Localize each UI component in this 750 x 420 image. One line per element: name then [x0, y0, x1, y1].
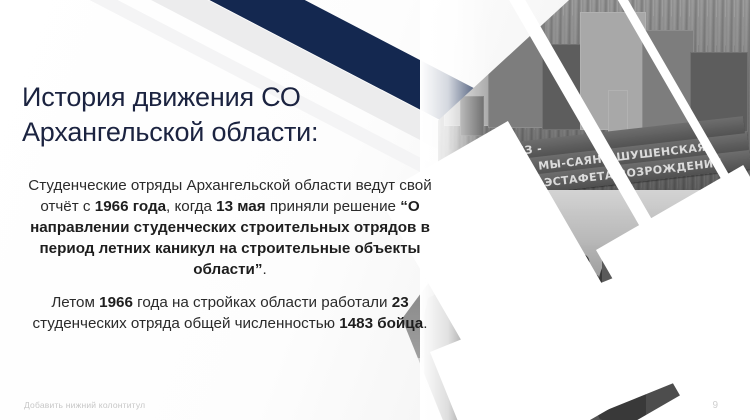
building-block: [608, 90, 628, 134]
text-run-bold: 1483 бойца: [339, 315, 423, 332]
text-run: .: [262, 261, 266, 278]
presentation-slide: НАШ ДЕВИЗ - СТРОИМ ГЭС, МЫ-САЯНО-ШУШЕНСК…: [0, 0, 750, 420]
slide-number: 9: [712, 400, 718, 411]
text-run: , когда: [166, 198, 216, 215]
body-text: Студенческие отряды Архангельской област…: [10, 176, 450, 335]
text-run: года на стройках области работали: [133, 294, 392, 311]
text-run: студенческих отряда общей численностью: [33, 315, 340, 332]
text-run-bold: 23: [392, 294, 409, 311]
text-run: .: [423, 315, 427, 332]
paragraph-2: Летом 1966 года на стройках области рабо…: [10, 293, 450, 335]
page-title: История движения СО Архангельской област…: [22, 80, 422, 149]
paragraph-1: Студенческие отряды Архангельской област…: [10, 176, 450, 281]
text-run: приняли решение: [266, 198, 401, 215]
text-run: Летом: [51, 294, 99, 311]
text-run-bold: 13 мая: [216, 198, 265, 215]
slide-content: История движения СО Архангельской област…: [0, 0, 470, 420]
text-run-bold: 1966 года: [95, 198, 166, 215]
text-run-bold: 1966: [99, 294, 133, 311]
footer-placeholder[interactable]: Добавить нижний колонтитул: [24, 400, 145, 410]
